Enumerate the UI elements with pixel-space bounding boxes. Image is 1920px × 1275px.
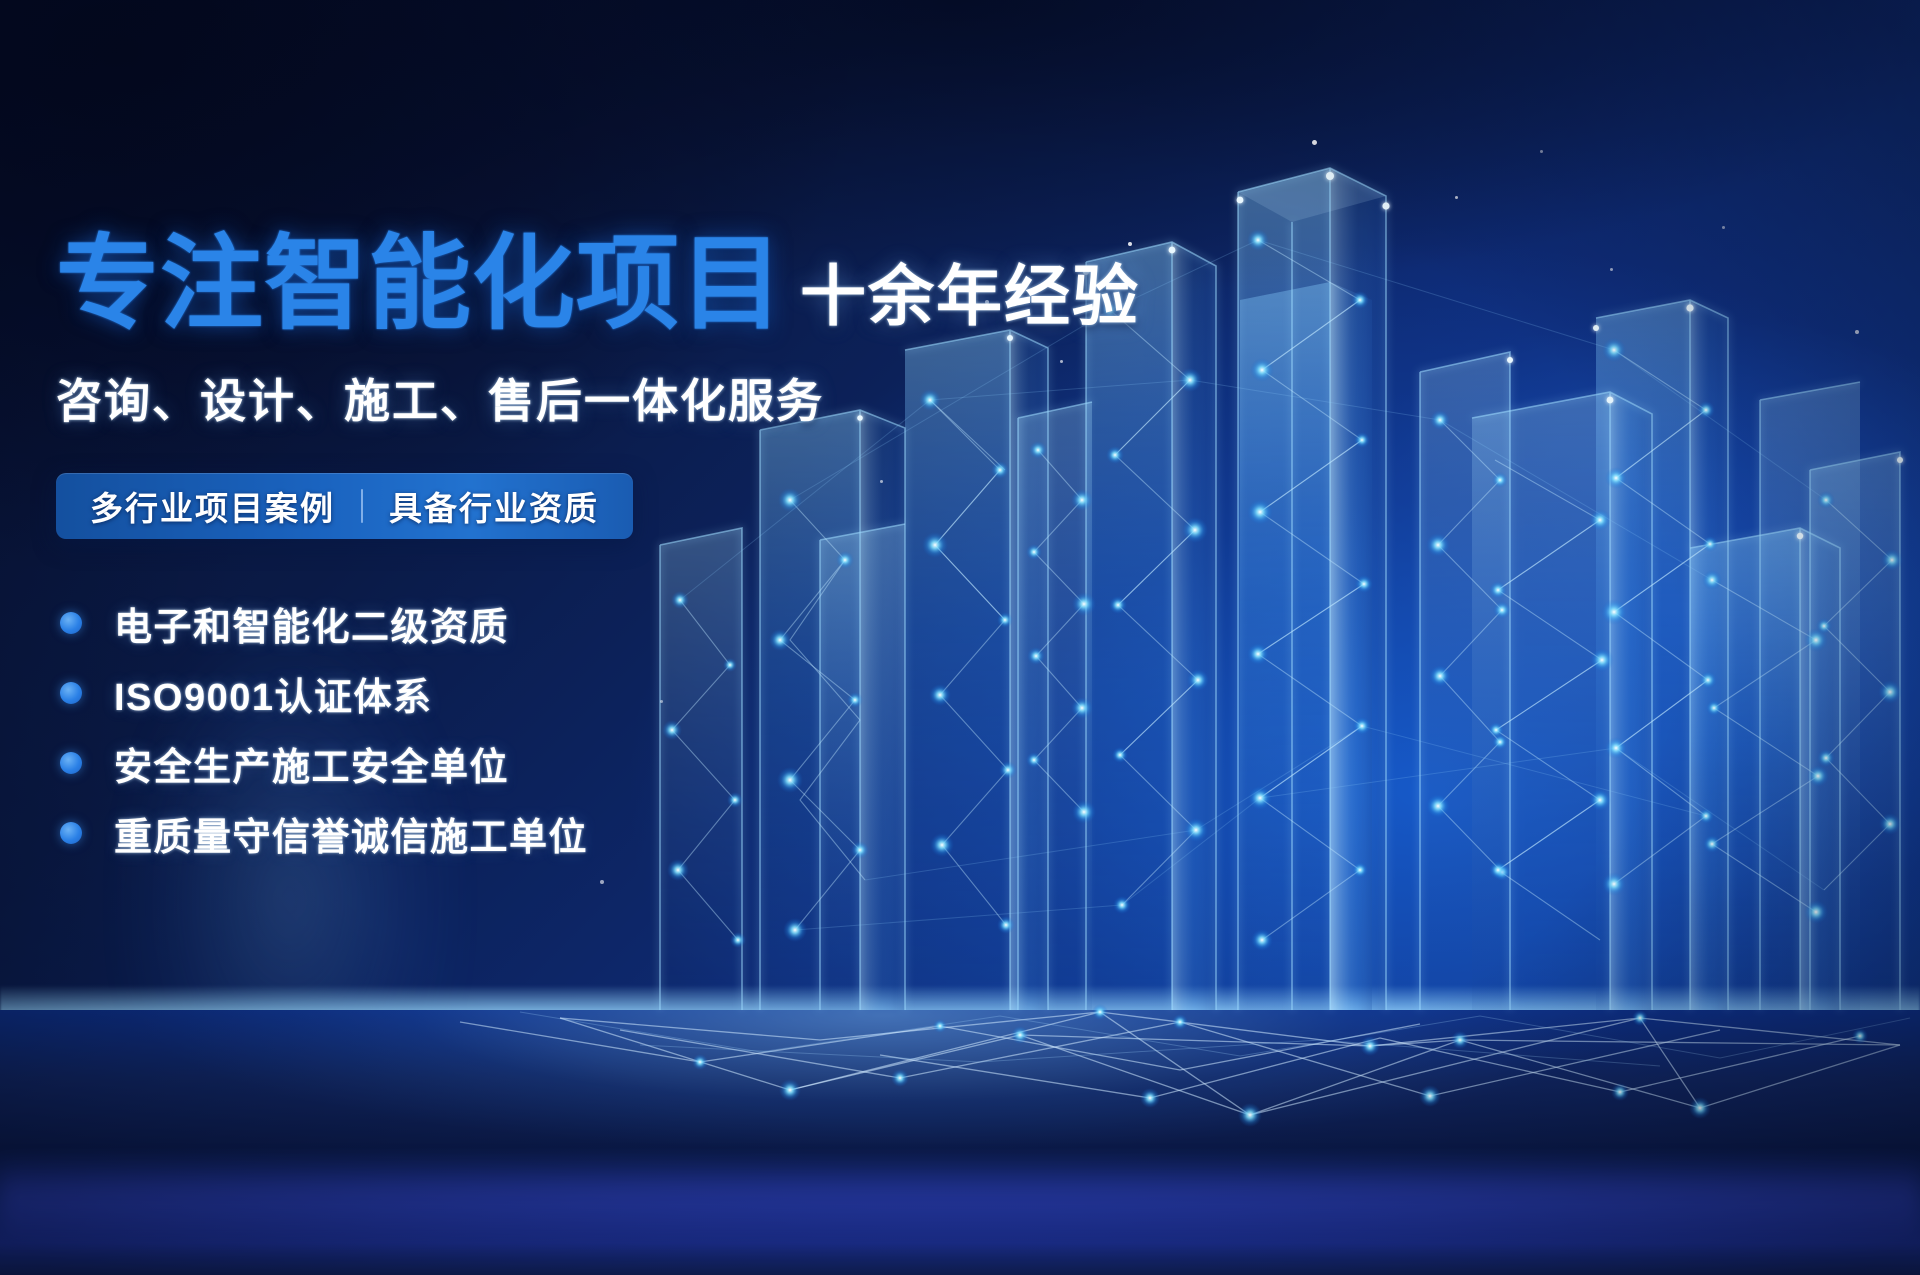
hero-banner: 专注智能化项目 十余年经验 咨询、设计、施工、售后一体化服务 多行业项目案例 具… xyxy=(0,0,1920,1275)
list-item: 重质量守信誉诚信施工单位 xyxy=(56,799,936,867)
list-item: 安全生产施工安全单位 xyxy=(56,729,936,797)
qualification-list: 电子和智能化二级资质 ISO9001认证体系 安全生产施工安全单位 重质量守信誉… xyxy=(56,589,936,867)
headline-sub-text: 十余年经验 xyxy=(800,261,1140,332)
badge-left-label: 多行业项目案例 xyxy=(90,482,335,530)
list-item: 电子和智能化二级资质 xyxy=(56,589,936,657)
headline-main-text: 专注智能化项目 xyxy=(56,228,784,339)
bullet-dot-icon xyxy=(60,822,82,844)
badge-right-label: 具备行业资质 xyxy=(389,482,599,530)
list-item-label: 安全生产施工安全单位 xyxy=(114,736,509,791)
bullet-dot-icon xyxy=(60,612,82,634)
page-title: 专注智能化项目 十余年经验 xyxy=(56,228,936,339)
badge-divider-icon xyxy=(361,489,363,523)
list-item-label: ISO9001认证体系 xyxy=(114,666,433,721)
bullet-dot-icon xyxy=(60,682,82,704)
tagline-text: 咨询、设计、施工、售后一体化服务 xyxy=(56,365,936,431)
list-item-label: 重质量守信誉诚信施工单位 xyxy=(114,806,588,861)
list-item-label: 电子和智能化二级资质 xyxy=(114,596,509,651)
background-ground-sheen xyxy=(0,1160,1920,1240)
list-item: ISO9001认证体系 xyxy=(56,659,936,727)
banner-content: 专注智能化项目 十余年经验 咨询、设计、施工、售后一体化服务 多行业项目案例 具… xyxy=(56,228,936,869)
qualification-badge: 多行业项目案例 具备行业资质 xyxy=(56,473,633,539)
bullet-dot-icon xyxy=(60,752,82,774)
